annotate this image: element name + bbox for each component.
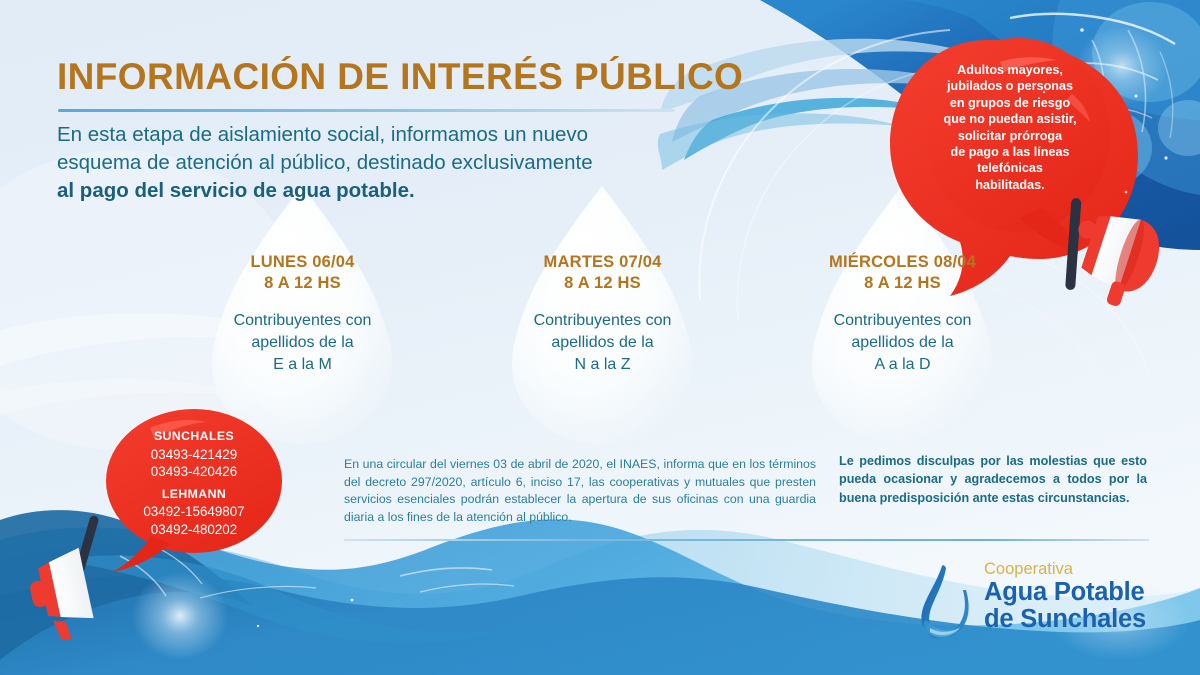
notice-line-2: jubilados o personas	[930, 78, 1090, 94]
lead-line-1: En esta etapa de aislamiento social, inf…	[57, 121, 697, 149]
page-title: INFORMACIÓN DE INTERÉS PÚBLICO	[57, 56, 743, 98]
infographic-poster: INFORMACIÓN DE INTERÉS PÚBLICO En esta e…	[0, 0, 1200, 675]
schedule-hours-label: 8 A 12 HS	[795, 272, 1010, 294]
phone-city-sunchales: SUNCHALES	[108, 428, 280, 446]
lead-line-strong: al pago del servicio de agua potable.	[57, 177, 697, 205]
logo-line-1: Agua Potable	[984, 579, 1146, 606]
schedule-desc-line-3: E a la M	[195, 354, 410, 376]
schedule-description: Contribuyentes con apellidos de la N a l…	[495, 310, 710, 376]
logo: Cooperativa Agua Potable de Sunchales	[916, 558, 1146, 646]
notice-line-8: habilitadas.	[930, 177, 1090, 193]
phone-lehmann-1[interactable]: 03492-15649807	[108, 503, 280, 521]
schedule-desc-line-2: apellidos de la	[495, 332, 710, 354]
lead-line-2: esquema de atención al público, destinad…	[57, 149, 697, 177]
phone-sunchales-1[interactable]: 03493-421429	[108, 446, 280, 464]
notice-bubble-text: Adultos mayores, jubilados o personas en…	[930, 62, 1090, 193]
footer-divider	[344, 539, 1149, 541]
footer-paragraph-left: En una circular del viernes 03 de abril …	[344, 456, 816, 526]
notice-line-7: telefónicas	[930, 160, 1090, 176]
phone-city-lehmann: LEHMANN	[108, 486, 280, 504]
logo-line-2: de Sunchales	[984, 606, 1146, 633]
schedule-desc-line-3: A a la D	[795, 354, 1010, 376]
schedule-description: Contribuyentes con apellidos de la E a l…	[195, 310, 410, 376]
schedule-desc-line-2: apellidos de la	[195, 332, 410, 354]
schedule-desc-line-2: apellidos de la	[795, 332, 1010, 354]
notice-line-1: Adultos mayores,	[930, 62, 1090, 78]
schedule-card-monday: LUNES 06/04 8 A 12 HS Contribuyentes con…	[195, 216, 410, 431]
notice-line-3: en grupos de riesgo	[930, 95, 1090, 111]
phone-bubble-text: SUNCHALES 03493-421429 03493-420426 LEHM…	[108, 428, 280, 538]
logo-wordmark: Cooperativa Agua Potable de Sunchales	[984, 560, 1146, 633]
phone-lehmann-2[interactable]: 03492-480202	[108, 521, 280, 539]
notice-line-4: que no puedan asistir,	[930, 111, 1090, 127]
notice-line-6: de pago a las líneas	[930, 144, 1090, 160]
schedule-card-wednesday: MIÉRCOLES 08/04 8 A 12 HS Contribuyentes…	[795, 216, 1010, 431]
schedule-hours-label: 8 A 12 HS	[495, 272, 710, 294]
notice-line-5: solicitar prórroga	[930, 128, 1090, 144]
title-divider	[58, 109, 675, 112]
schedule-desc-line-3: N a la Z	[495, 354, 710, 376]
schedule-desc-line-1: Contribuyentes con	[795, 310, 1010, 332]
water-drop-logo-icon	[916, 562, 978, 642]
schedule-desc-line-1: Contribuyentes con	[495, 310, 710, 332]
schedule-desc-line-1: Contribuyentes con	[195, 310, 410, 332]
footer-paragraph-right: Le pedimos disculpas por las molestias q…	[839, 452, 1147, 507]
schedule-day-label: LUNES 06/04	[195, 252, 410, 272]
schedule-hours-label: 8 A 12 HS	[195, 272, 410, 294]
schedule-description: Contribuyentes con apellidos de la A a l…	[795, 310, 1010, 376]
schedule-day-label: MIÉRCOLES 08/04	[795, 252, 1010, 272]
logo-cooperativa: Cooperativa	[984, 560, 1146, 579]
lead-paragraph: En esta etapa de aislamiento social, inf…	[57, 121, 697, 205]
phone-sunchales-2[interactable]: 03493-420426	[108, 463, 280, 481]
schedule-day-label: MARTES 07/04	[495, 252, 710, 272]
schedule-card-tuesday: MARTES 07/04 8 A 12 HS Contribuyentes co…	[495, 216, 710, 431]
